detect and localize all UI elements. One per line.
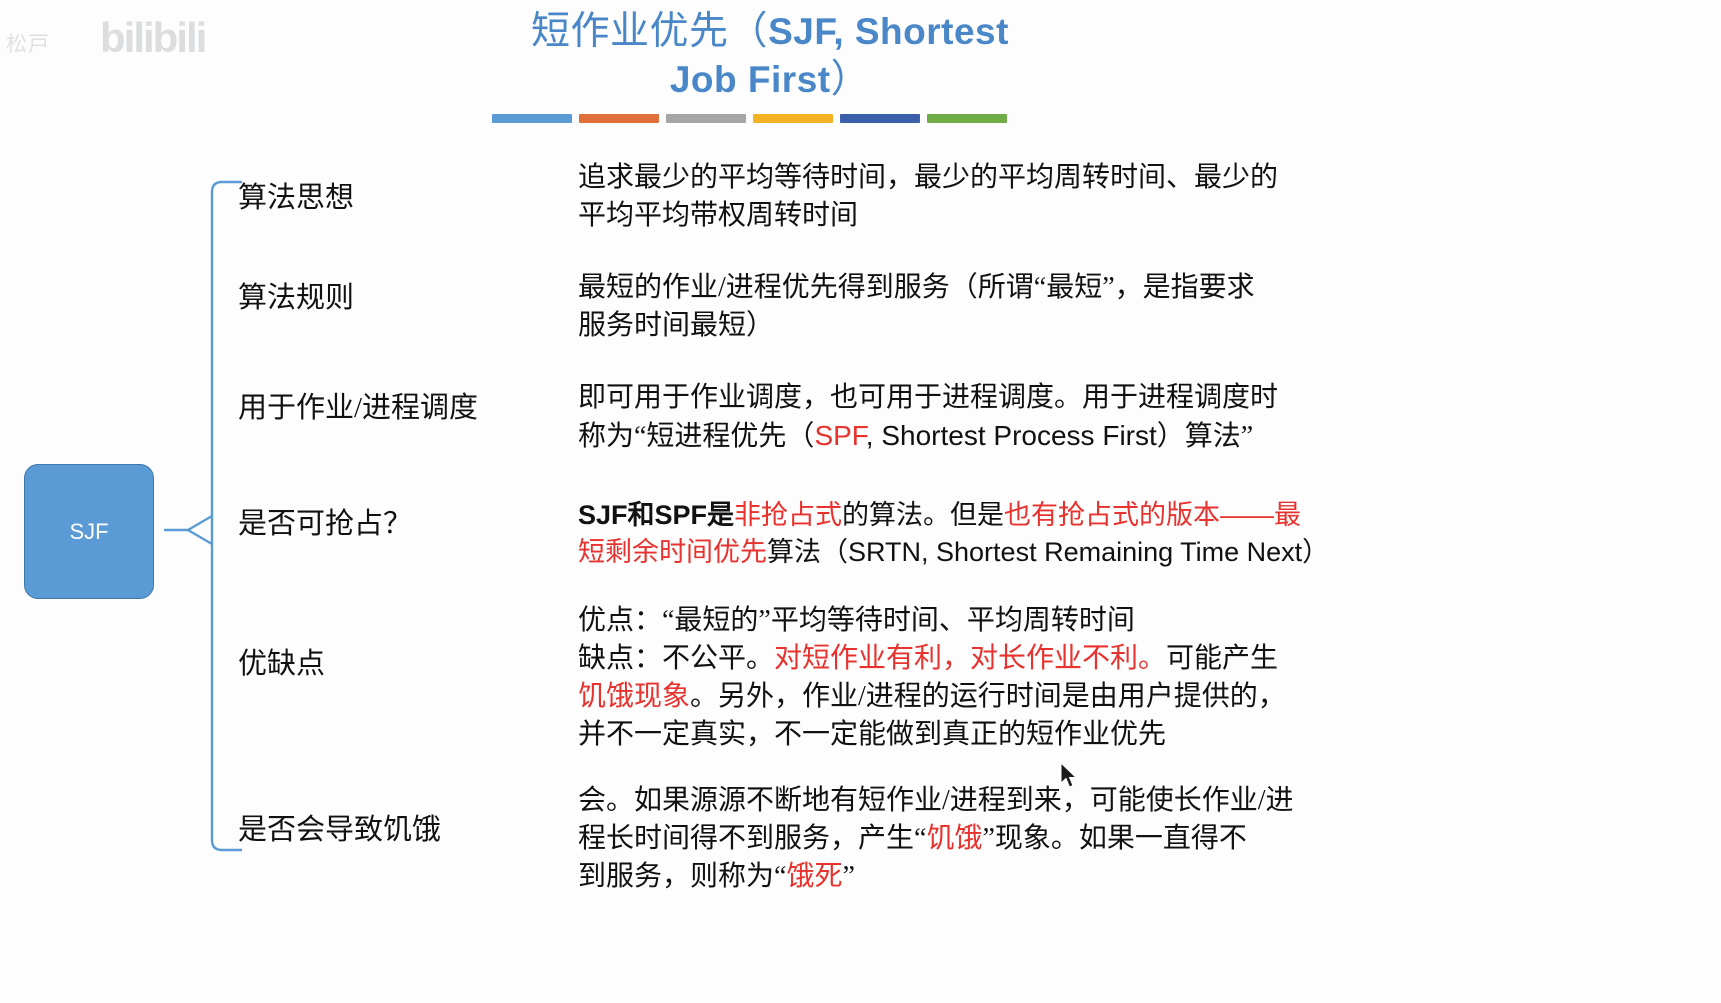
algorithm-rule-line-2: 服务时间最短） bbox=[578, 307, 1448, 345]
preemption-line-2: 短剩余时间优先算法（SRTN, Shortest Remaining Time … bbox=[578, 534, 1448, 571]
starvation-highlight-1: 饥饿 bbox=[926, 823, 982, 854]
title-line-1: 短作业优先（SJF, Shortest bbox=[470, 8, 1070, 56]
usage-text-c: ）算法” bbox=[1157, 421, 1253, 452]
starvation-text-c: 到服务，则称为“ bbox=[578, 861, 786, 892]
bilibili-watermark: 松戸 bilibili bbox=[4, 6, 244, 76]
slide-canvas: 松戸 bilibili 短作业优先（SJF, Shortest Job Firs… bbox=[0, 0, 1721, 1003]
preemption-highlight-3: 短剩余时间优先 bbox=[578, 537, 767, 567]
pros-cons-line-3: 饥饿现象。另外，作业/进程的运行时间是由用户提供的， bbox=[578, 678, 1448, 716]
branch-label-algorithm-idea: 算法思想 bbox=[238, 174, 354, 216]
pros-cons-line-4: 并不一定真实，不一定能做到真正的短作业优先 bbox=[578, 716, 1448, 754]
pros-cons-text-a: 缺点：不公平。 bbox=[578, 643, 774, 674]
title-paren-open: （ bbox=[729, 10, 769, 53]
algorithm-idea-line-1: 追求最少的平均等待时间，最少的平均周转时间、最少的 bbox=[578, 159, 1448, 197]
title-paren-close: ） bbox=[831, 58, 871, 101]
branch-label-preemption: 是否可抢占？ bbox=[238, 500, 412, 542]
branch-label-starvation: 是否会导致饥饿 bbox=[238, 806, 441, 848]
title-chinese: 短作业优先 bbox=[531, 10, 729, 53]
connector-root-joint bbox=[188, 516, 212, 544]
preemption-line-1: SJF和SPF是非抢占式的算法。但是也有抢占式的版本——最 bbox=[578, 497, 1448, 534]
watermark-text: 松戸 bbox=[6, 28, 50, 58]
mindmap-root-node: SJF bbox=[24, 464, 154, 599]
starvation-text-a: 程长时间得不到服务，产生“ bbox=[578, 823, 926, 854]
title-line-2: Job First） bbox=[470, 56, 1070, 104]
paragraph-usage: 即可用于作业调度，也可用于进程调度。用于进程调度时 称为“短进程优先（SPF, … bbox=[578, 379, 1448, 456]
slide-title: 短作业优先（SJF, Shortest Job First） bbox=[470, 8, 1070, 104]
pros-cons-line-1: 优点：“最短的”平均等待时间、平均周转时间 bbox=[578, 602, 1448, 640]
starvation-text-d: ” bbox=[842, 861, 854, 892]
usage-spf-highlight: SPF bbox=[814, 420, 865, 451]
starvation-line-1: 会。如果源源不断地有短作业/进程到来，可能使长作业/进 bbox=[578, 782, 1448, 820]
rule-bar-1 bbox=[492, 114, 572, 123]
rule-bar-3 bbox=[666, 114, 746, 123]
paragraph-algorithm-idea: 追求最少的平均等待时间，最少的平均周转时间、最少的 平均平均带权周转时间 bbox=[578, 159, 1448, 235]
rule-bar-2 bbox=[579, 114, 659, 123]
usage-line-1: 即可用于作业调度，也可用于进程调度。用于进程调度时 bbox=[578, 379, 1448, 417]
preemption-text-c: 算法（SRTN, Shortest Remaining Time Next） bbox=[767, 537, 1329, 567]
paragraph-preemption: SJF和SPF是非抢占式的算法。但是也有抢占式的版本——最 短剩余时间优先算法（… bbox=[578, 497, 1448, 571]
usage-text-b: , Shortest Process First bbox=[866, 420, 1157, 451]
rule-bar-6 bbox=[927, 114, 1007, 123]
branch-label-pros-cons: 优缺点 bbox=[238, 640, 325, 682]
paragraph-pros-cons: 优点：“最短的”平均等待时间、平均周转时间 缺点：不公平。对短作业有利，对长作业… bbox=[578, 602, 1448, 754]
rule-bar-5 bbox=[840, 114, 920, 123]
preemption-highlight-1: 非抢占式 bbox=[734, 500, 842, 530]
starvation-line-2: 程长时间得不到服务，产生“饥饿”现象。如果一直得不 bbox=[578, 820, 1448, 858]
branch-label-algorithm-rule: 算法规则 bbox=[238, 274, 354, 316]
title-english-1: SJF, Shortest bbox=[768, 11, 1009, 52]
root-node-label: SJF bbox=[69, 519, 108, 545]
starvation-highlight-2: 饿死 bbox=[786, 861, 842, 892]
pros-cons-highlight-2: 饥饿现象 bbox=[578, 681, 690, 712]
paragraph-starvation: 会。如果源源不断地有短作业/进程到来，可能使长作业/进 程长时间得不到服务，产生… bbox=[578, 782, 1448, 896]
preemption-text-a: SJF和SPF是 bbox=[578, 500, 734, 530]
starvation-text-b: ”现象。如果一直得不 bbox=[982, 823, 1246, 854]
rule-bar-4 bbox=[753, 114, 833, 123]
pros-cons-line-2: 缺点：不公平。对短作业有利，对长作业不利。可能产生 bbox=[578, 640, 1448, 678]
pros-cons-highlight-1: 对短作业有利，对长作业不利。 bbox=[774, 643, 1166, 674]
usage-text-a: 称为“短进程优先（ bbox=[578, 421, 814, 452]
branch-label-usage: 用于作业/进程调度 bbox=[238, 384, 478, 426]
preemption-text-b: 的算法。但是 bbox=[842, 500, 1004, 530]
pros-cons-text-c: 。另外，作业/进程的运行时间是由用户提供的， bbox=[690, 681, 1286, 712]
pros-cons-text-b: 可能产生 bbox=[1166, 643, 1278, 674]
preemption-highlight-2: 也有抢占式的版本——最 bbox=[1004, 500, 1301, 530]
title-color-rules bbox=[492, 114, 1007, 123]
bilibili-logo: bilibili bbox=[100, 14, 205, 62]
usage-line-2: 称为“短进程优先（SPF, Shortest Process First）算法” bbox=[578, 417, 1448, 456]
paragraph-algorithm-rule: 最短的作业/进程优先得到服务（所谓“最短”，是指要求 服务时间最短） bbox=[578, 269, 1448, 345]
title-english-2: Job First bbox=[670, 59, 831, 100]
algorithm-idea-line-2: 平均平均带权周转时间 bbox=[578, 197, 1448, 235]
mouse-cursor-icon bbox=[1060, 762, 1080, 790]
starvation-line-3: 到服务，则称为“饿死” bbox=[578, 858, 1448, 896]
algorithm-rule-line-1: 最短的作业/进程优先得到服务（所谓“最短”，是指要求 bbox=[578, 269, 1448, 307]
